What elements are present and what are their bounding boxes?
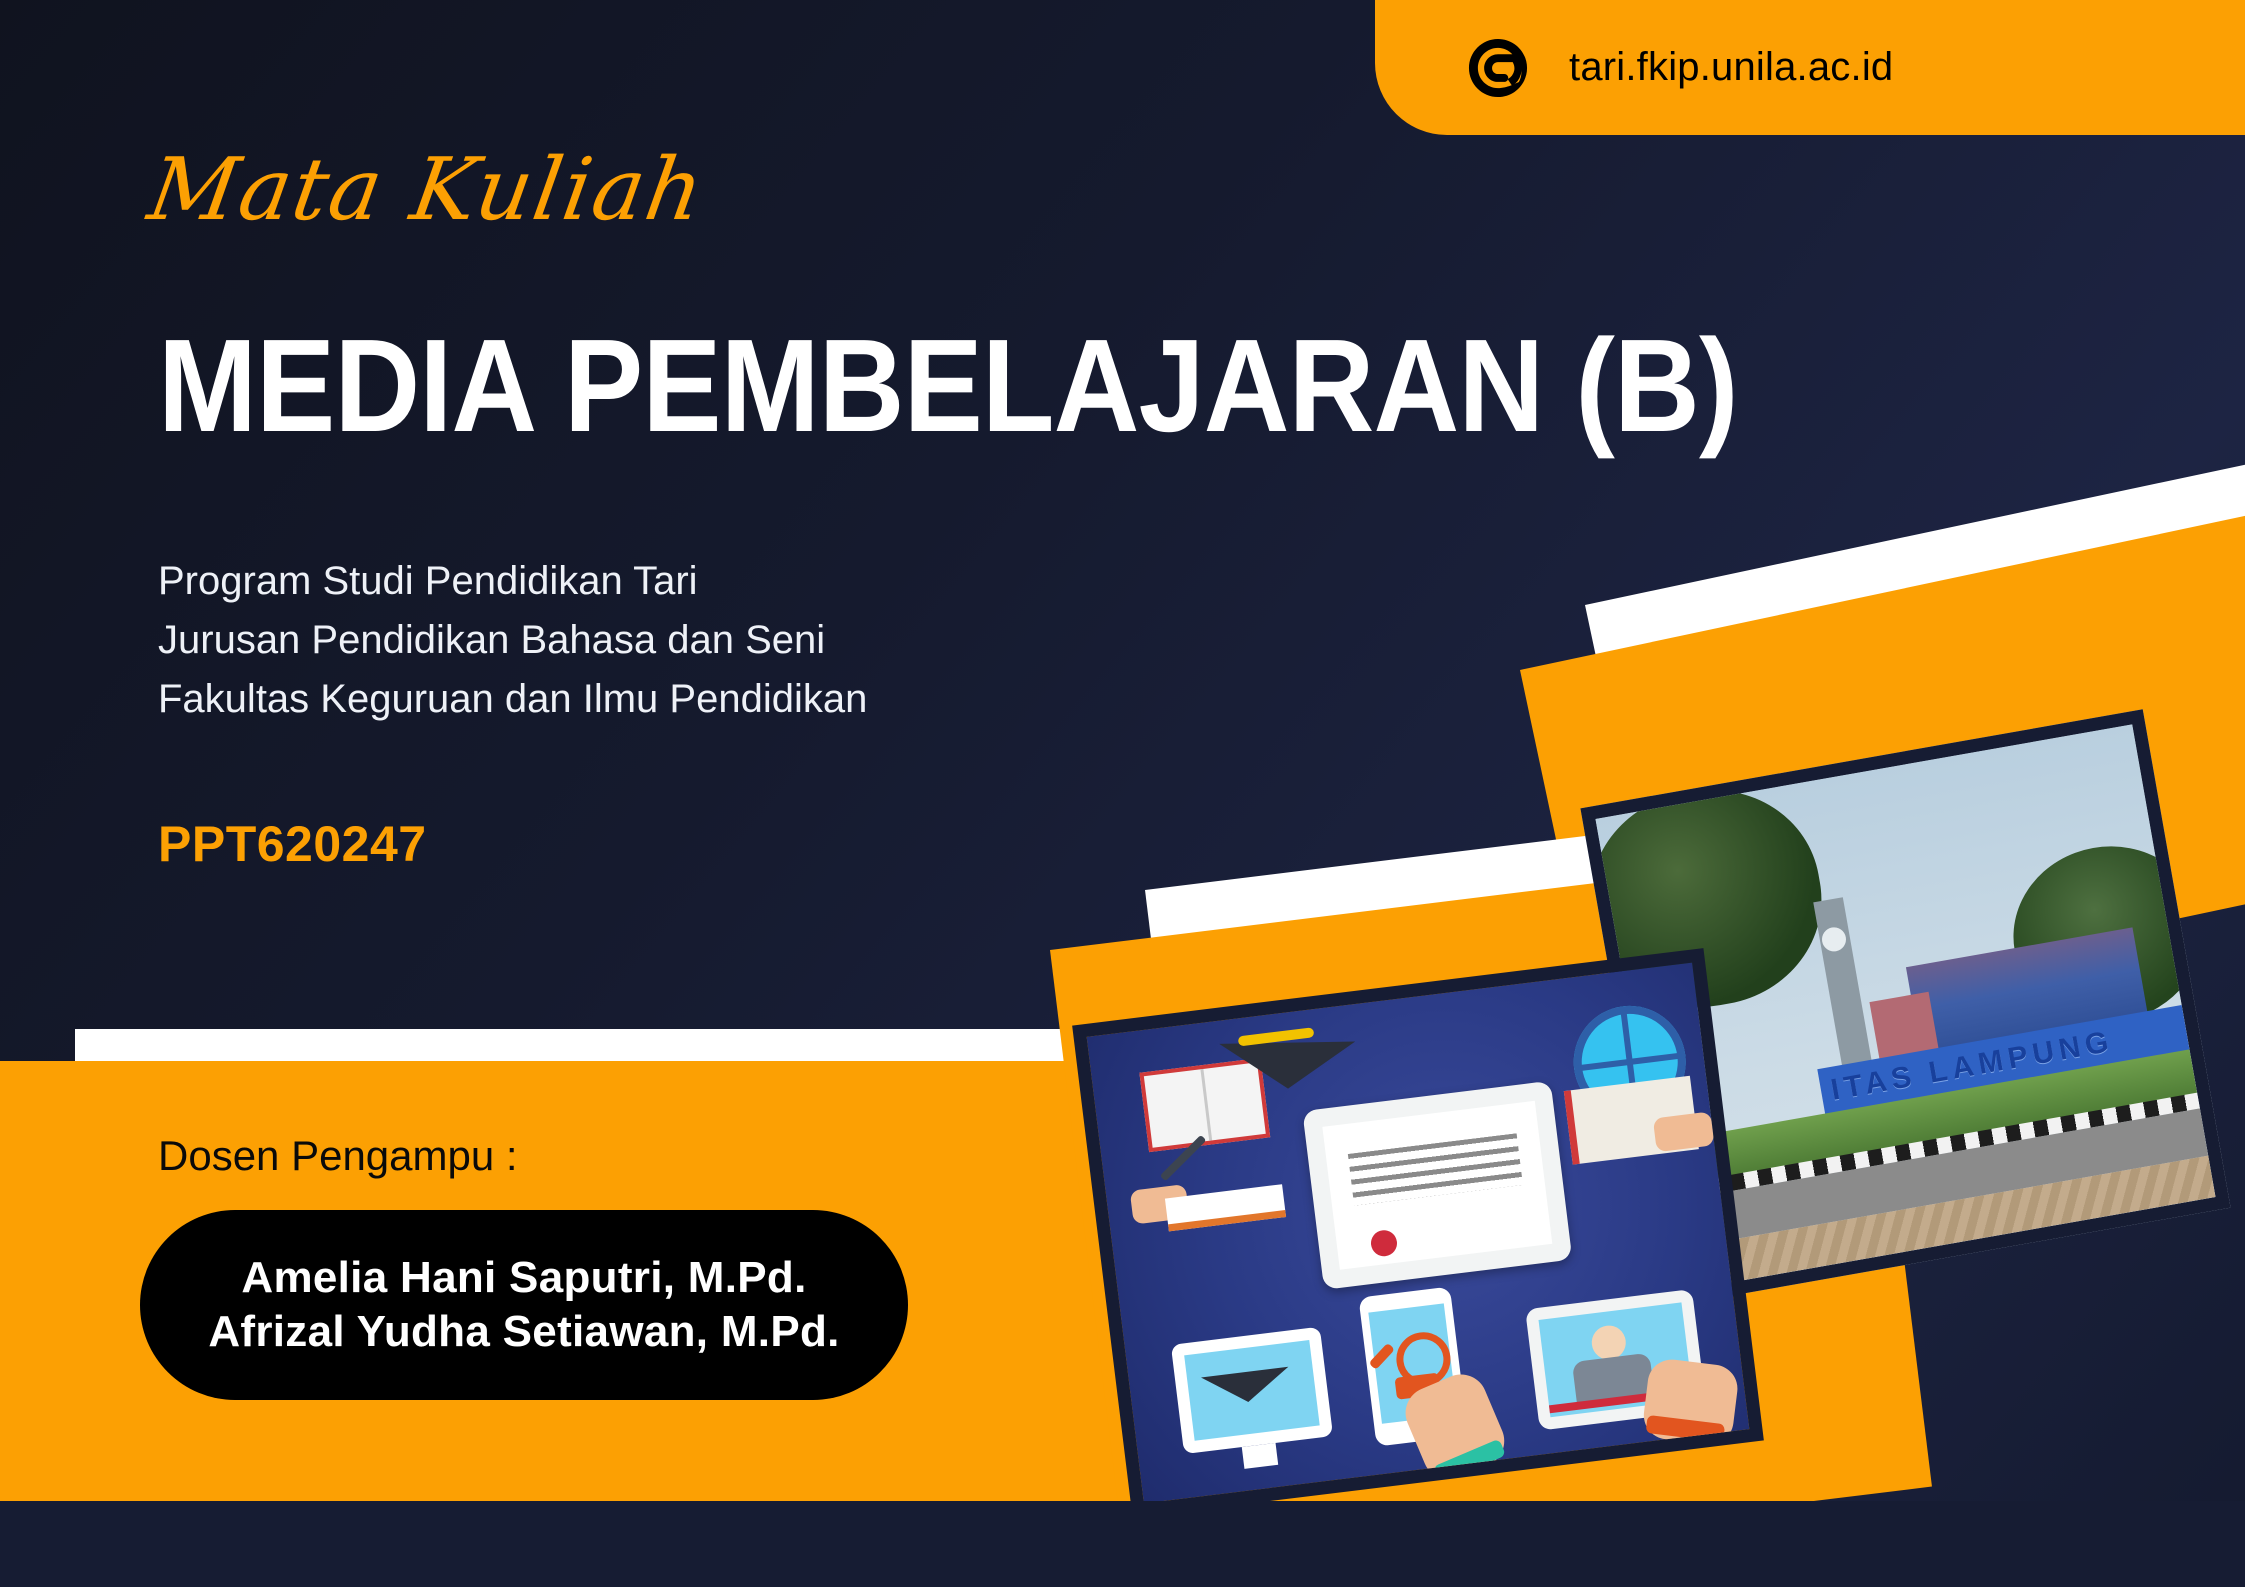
bottom-accent-bar (0, 1501, 2245, 1587)
site-url-text: tari.fkip.unila.ac.id (1569, 45, 1893, 90)
eyebrow-script-text: Mata Kuliah (142, 140, 712, 240)
lecturer-name-pill: Amelia Hani Saputri, M.Pd. Afrizal Yudha… (140, 1210, 908, 1400)
program-line-3: Fakultas Keguruan dan Ilmu Pendidikan (158, 670, 867, 729)
tablet-certificate-icon (1302, 1081, 1572, 1290)
lecturer-name-2: Afrizal Yudha Setiawan, M.Pd. (208, 1307, 839, 1357)
page-title: MEDIA PEMBELAJARAN (B) (158, 320, 1738, 452)
course-title-slide: tari.fkip.unila.ac.id Mata Kuliah MEDIA … (0, 0, 2245, 1587)
program-line-2: Jurusan Pendidikan Bahasa dan Seni (158, 611, 867, 670)
hand-right (1653, 1111, 1715, 1152)
site-header-bar: tari.fkip.unila.ac.id (1375, 0, 2245, 135)
program-line-1: Program Studi Pendidikan Tari (158, 552, 867, 611)
photo-collage: ITAS LAMPUNG (1040, 590, 2245, 1510)
white-accent-strip (75, 1029, 1065, 1061)
graduation-cap-icon (1219, 1041, 1356, 1089)
lecturer-name-1: Amelia Hani Saputri, M.Pd. (241, 1253, 806, 1303)
lecturer-label: Dosen Pengampu : (158, 1132, 518, 1180)
hand-holding-tablet (1641, 1357, 1740, 1447)
elearning-illustration (1072, 948, 1764, 1518)
spiral-brand-logo-icon (1465, 35, 1531, 101)
program-info-block: Program Studi Pendidikan Tari Jurusan Pe… (158, 552, 867, 730)
course-code: PPT620247 (158, 815, 427, 873)
